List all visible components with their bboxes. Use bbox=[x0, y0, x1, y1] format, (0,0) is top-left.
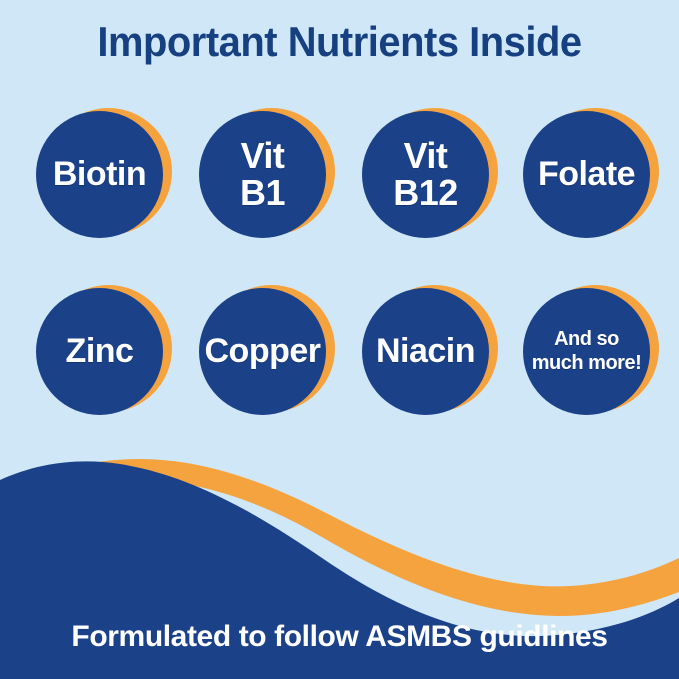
nutrient-badge-label: Copper bbox=[169, 288, 356, 415]
nutrient-badge-vit-b12: Vit B12 bbox=[362, 107, 489, 234]
nutrient-badge-biotin: Biotin bbox=[36, 107, 163, 234]
page-title: Important Nutrients Inside bbox=[17, 18, 662, 66]
nutrient-row: Biotin Vit B1 Vit B12 Folate bbox=[31, 107, 651, 284]
nutrient-badge-label: Folate bbox=[493, 111, 679, 238]
nutrient-info-poster: Important Nutrients Inside Biotin Vit B1… bbox=[0, 0, 679, 679]
nutrient-badge-label: Vit B1 bbox=[169, 111, 356, 238]
nutrient-badge-label: Biotin bbox=[6, 111, 193, 238]
nutrient-badge-label: Niacin bbox=[332, 288, 519, 415]
nutrient-badge-label: And so much more! bbox=[493, 288, 679, 415]
nutrient-badge-vit-b1: Vit B1 bbox=[199, 107, 326, 234]
nutrient-badge-folate: Folate bbox=[523, 107, 650, 234]
nutrient-badge-and-so-much-more: And so much more! bbox=[523, 284, 650, 411]
nutrient-badge-grid: Biotin Vit B1 Vit B12 Folate bbox=[31, 107, 651, 461]
nutrient-badge-label: Vit B12 bbox=[332, 111, 519, 238]
nutrient-badge-label: Zinc bbox=[6, 288, 193, 415]
footer-tagline: Formulated to follow ASMBS guidlines bbox=[0, 620, 679, 654]
nutrient-badge-niacin: Niacin bbox=[362, 284, 489, 411]
nutrient-badge-copper: Copper bbox=[199, 284, 326, 411]
nutrient-badge-zinc: Zinc bbox=[36, 284, 163, 411]
